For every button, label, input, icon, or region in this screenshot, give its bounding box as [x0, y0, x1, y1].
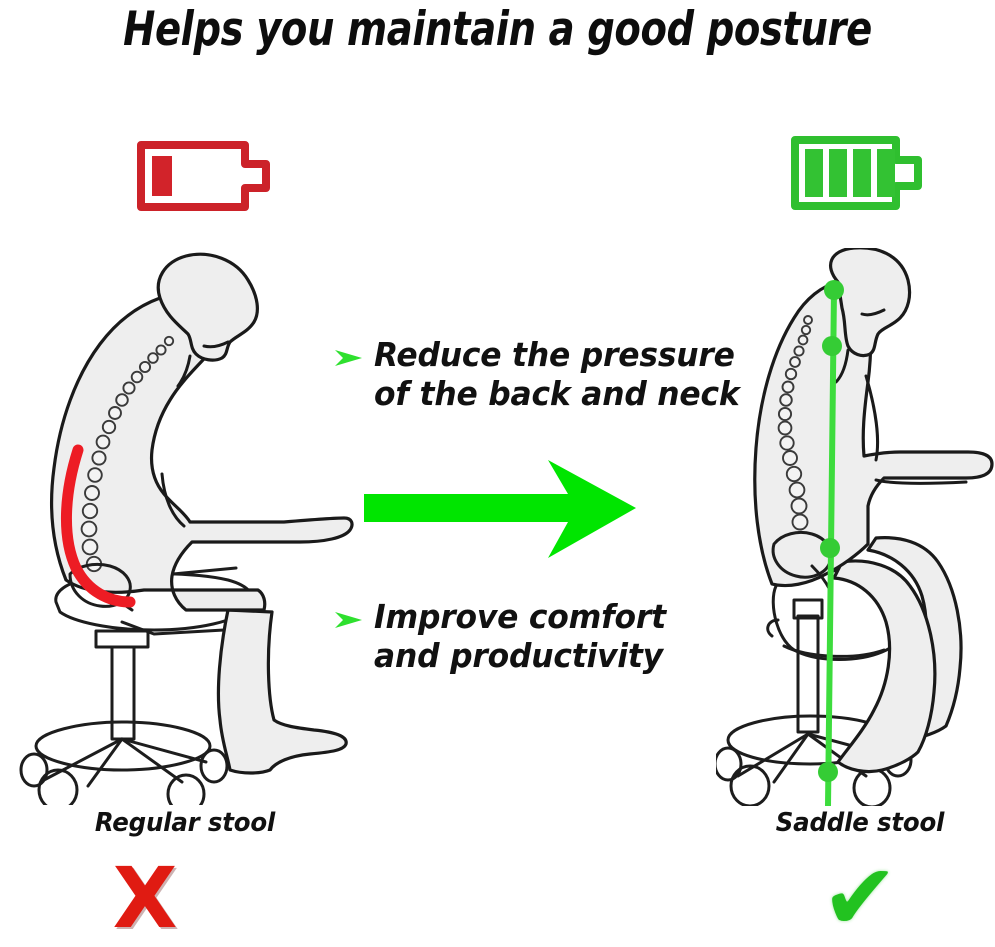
battery-full-icon [789, 128, 924, 220]
arrow-bullet-icon [334, 610, 364, 634]
benefit-bullet-label: Reduce the pressure of the back and neck [374, 336, 740, 413]
right-arrow-icon [360, 448, 640, 572]
right-panel-caption: Saddle stool [672, 808, 995, 838]
page-title: Helps you maintain a good posture [90, 2, 906, 57]
slouched-person-on-regular-stool-illustration [14, 250, 354, 805]
arrow-bullet-icon [334, 348, 364, 372]
benefit-bullet-improve-comfort: Improve comfort and productivity [334, 598, 681, 675]
left-panel-caption: Regular stool [11, 808, 359, 838]
benefit-bullet-reduce-pressure: Reduce the pressure of the back and neck [334, 336, 759, 413]
battery-low-icon [135, 131, 275, 221]
cross-mark-icon: X [0, 856, 290, 940]
infographic-canvas: Helps you maintain a good posture [0, 0, 995, 947]
upright-person-on-saddle-stool-illustration [716, 248, 995, 806]
check-mark-icon: ✔ [715, 852, 995, 944]
benefit-bullet-label: Improve comfort and productivity [374, 598, 666, 675]
